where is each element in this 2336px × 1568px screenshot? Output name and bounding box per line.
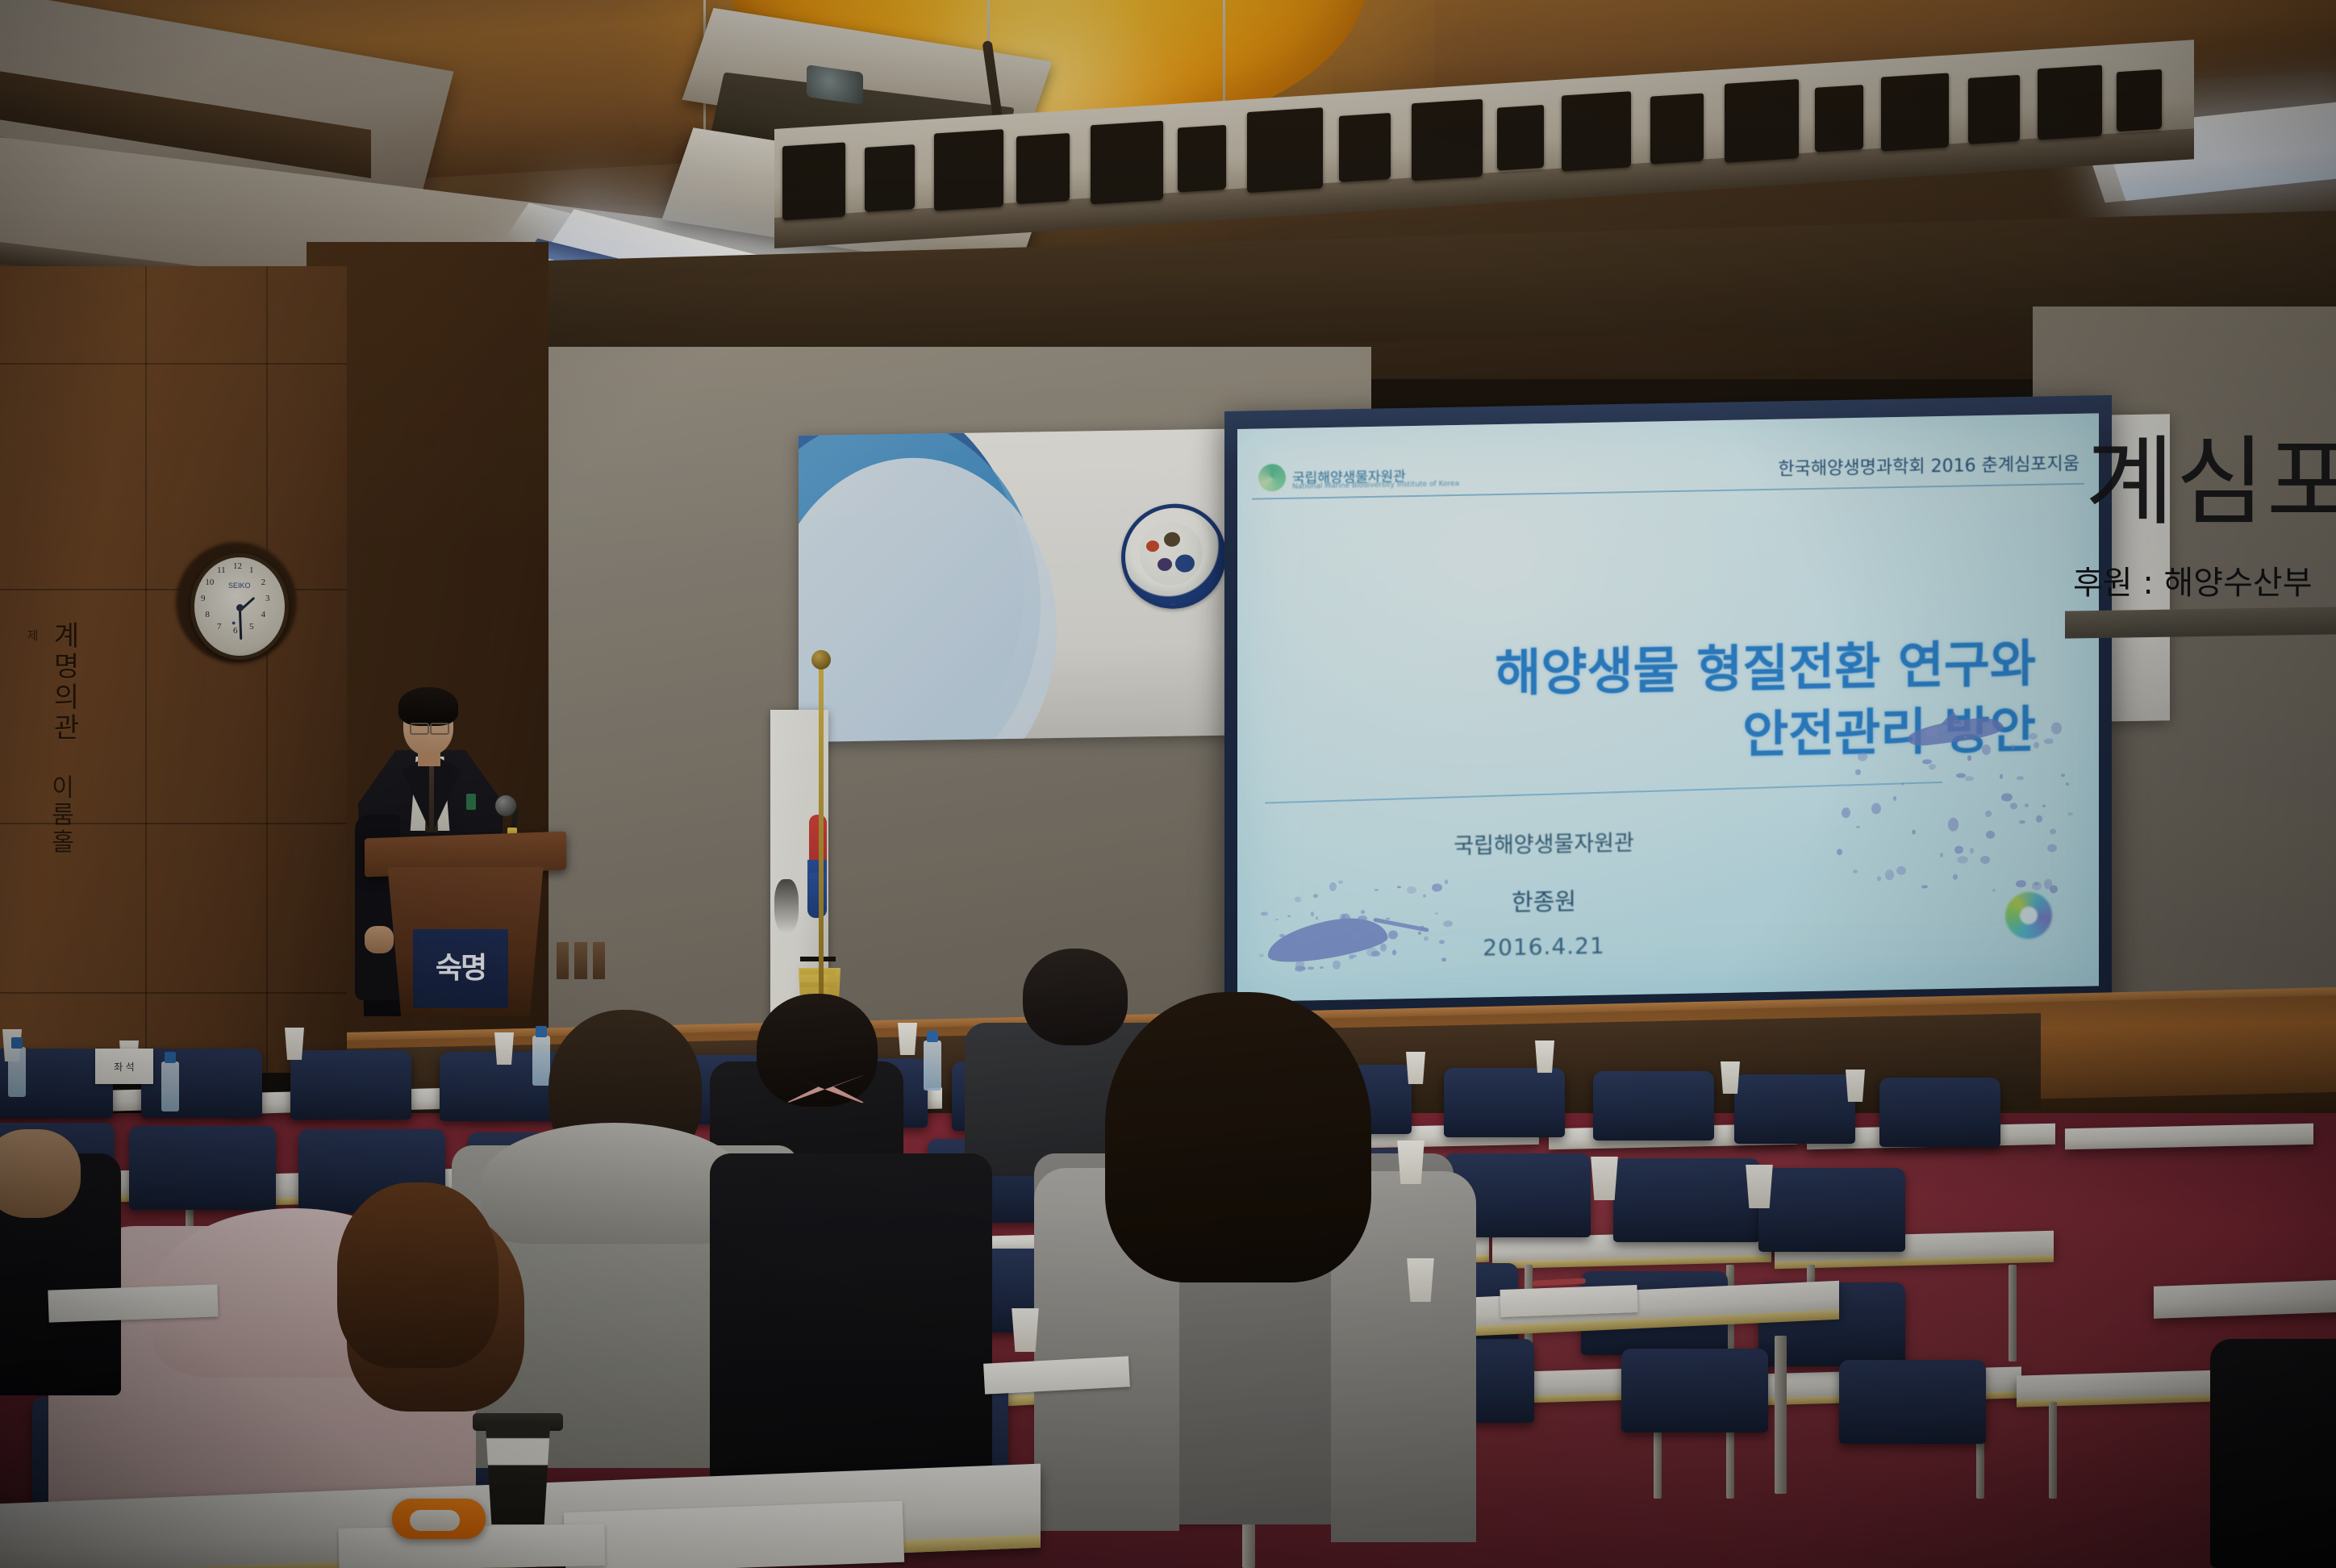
water-bottle — [924, 1040, 941, 1091]
orange-pouch-label — [410, 1510, 460, 1531]
microphone-head — [495, 795, 516, 816]
slide-art-plankton-dot — [2025, 803, 2029, 807]
slide-art-plankton-dot — [1386, 917, 1390, 920]
slide-art-plankton-dot — [1261, 911, 1268, 915]
slide-art-plankton-dot — [1929, 726, 1938, 735]
slide-art-plankton-dot — [1942, 728, 1945, 731]
clock-numeral: 9 — [201, 594, 206, 603]
water-bottle-cap — [165, 1052, 176, 1063]
slide-art-plankton-dot — [1287, 915, 1291, 917]
slide-art-plankton-dot — [1420, 926, 1425, 930]
slide-art-plankton-dot — [1361, 910, 1365, 914]
slide-art-plankton-dot — [1929, 764, 1936, 770]
clock-numeral: 12 — [233, 561, 242, 571]
desk-tent-card: 좌 석 — [95, 1049, 153, 1084]
hoodie-hood — [481, 1123, 747, 1244]
banner-right-title: 계심포 — [2085, 403, 2336, 544]
slide-art-plankton-dot — [1424, 936, 1429, 941]
slide-art-plankton-dot — [1921, 885, 1928, 889]
slide-art-plankton-dot — [2012, 745, 2015, 749]
speaker-name-badge — [466, 794, 476, 810]
slide-art-plankton-dot — [2067, 812, 2073, 815]
slide-art-plankton-dot — [1435, 912, 1438, 915]
clock-subdial: ● — [232, 619, 236, 627]
slide-art-plankton-dot — [2019, 820, 2025, 824]
slide-art-plankton-dot — [2032, 882, 2042, 890]
slide-art-plankton-dot — [1901, 782, 1904, 786]
ceiling-spot-lamp — [1881, 73, 1949, 151]
slide-art-plankton-dot — [1982, 744, 1991, 756]
slide-art-plankton-dot — [1329, 882, 1337, 891]
water-bottle-cap — [11, 1037, 23, 1049]
slide-art-plankton-dot — [1295, 896, 1300, 903]
water-bottle — [532, 1036, 550, 1086]
wall-plaque-text-upper: 계명의관 — [44, 621, 84, 744]
ceiling-spot-lamp — [2117, 69, 2162, 132]
society-emblem-inner — [1140, 522, 1203, 586]
tent-card-label: 좌 석 — [114, 1060, 134, 1074]
slide-art-plankton-dot — [1980, 856, 1990, 864]
ceiling-spot-lamp — [1562, 91, 1631, 171]
slide-art-plankton-dot — [2066, 782, 2069, 786]
slide-art-plankton-dot — [1940, 853, 1943, 857]
water-bottle-cap — [536, 1026, 547, 1037]
slide-art-plankton-dot — [1397, 886, 1402, 888]
slide-art-plankton-dot — [1311, 912, 1314, 916]
slide-art-plankton-dot — [1953, 874, 1958, 880]
slide-art-plankton-dot — [1316, 916, 1318, 920]
ceiling-spot-lamp — [865, 144, 915, 212]
slide-art-plankton-dot — [2042, 804, 2046, 807]
water-bottle-cap — [927, 1031, 938, 1042]
slide-art-plankton-dot — [2029, 733, 2038, 740]
ceiling-spot-lamp — [1497, 105, 1544, 171]
wall-plaque-text-lower: 이룸홀 — [42, 774, 77, 857]
water-bottle — [161, 1061, 179, 1111]
slide-art-plankton-dot — [1432, 883, 1442, 892]
clock-numeral: 5 — [249, 622, 254, 632]
slide-art-plankton-dot — [2001, 793, 2012, 802]
audience-person-head — [0, 1129, 81, 1218]
slide-art-plankton-dot — [1275, 919, 1278, 920]
clock-numeral: 4 — [261, 610, 266, 619]
clock-numeral: 7 — [217, 622, 222, 632]
chair-mid — [1613, 1158, 1760, 1242]
society-emblem-icon — [1121, 503, 1226, 610]
flag-taeguk-blue — [807, 860, 827, 918]
slide-art-plankton-dot — [1855, 769, 1860, 775]
ceiling-spot-lamp — [1247, 107, 1323, 193]
ceiling-spot-lamp — [1091, 121, 1163, 205]
podium-logo-text: 숙명 — [436, 955, 486, 982]
ceiling-spot-lamp — [934, 129, 1003, 211]
slide-art-plankton-dot — [1351, 954, 1357, 957]
wall-vent-louvers — [557, 942, 605, 979]
slide-art-plankton-dot — [1853, 869, 1858, 874]
slide-art-plankton-dot — [1871, 803, 1881, 814]
slide-art-plankton-dot — [1856, 826, 1860, 828]
slide-art-plankton-dot — [1912, 830, 1916, 835]
slide-art-plankton-dot — [1986, 831, 1995, 839]
slide-art-plankton-dot — [1375, 931, 1381, 938]
slide-art-plankton-dot — [1423, 894, 1425, 897]
slide-art-plankton-cluster-right — [1834, 720, 2068, 894]
foreground-paper-stack — [564, 1501, 904, 1568]
slide-art-plankton-dot — [2017, 776, 2024, 781]
slide-art-plankton-dot — [1988, 724, 1992, 729]
slide-eyebrow-text: 한국해양생명과학회 2016 춘계심포지움 — [1778, 449, 2079, 481]
chair-far — [290, 1050, 411, 1120]
slide-art-plankton-dot — [1970, 849, 1975, 853]
slide-art-plankton-dot — [1439, 940, 1445, 945]
slide-art-plankton-dot — [2016, 880, 2025, 887]
speaker-glasses-right-lens — [430, 723, 449, 735]
takeaway-coffee-cup — [479, 1421, 557, 1524]
audience-person-head — [1023, 949, 1128, 1045]
clock-brand-text: SEIKO — [228, 582, 251, 590]
slide-art-plankton-dot — [2044, 738, 2054, 744]
flag-pole — [819, 661, 824, 1032]
flag-trigram-bar — [800, 957, 836, 961]
slide-art-plankton-dot — [1338, 880, 1343, 883]
slide-art-plankton-dot — [1313, 894, 1318, 898]
desk-leg — [2009, 1265, 2017, 1362]
wall-clock: 121234567891011 SEIKO ● — [190, 553, 289, 660]
slide-art-plankton-dot — [2034, 742, 2039, 749]
podium-logo-plate: 숙명 — [413, 929, 508, 1008]
chair-far — [1879, 1078, 2000, 1147]
chair-mid — [1621, 1349, 1768, 1432]
water-bottle — [8, 1047, 26, 1097]
audience-person-torso — [710, 1153, 992, 1492]
banner-right-sponsor-line: 후원 : 해양수산부 — [2073, 557, 2313, 603]
ceiling-spot-lamp — [1016, 133, 1070, 204]
slide-art-plankton-dot — [1948, 818, 1959, 832]
slide-art-plankton-dot — [1320, 966, 1324, 969]
audience-person-head — [1105, 992, 1371, 1282]
flag-pole-finial — [811, 650, 831, 669]
clock-numeral: 1 — [249, 565, 254, 575]
slide-art-plankton-dot — [1896, 865, 1906, 874]
slide-art-plankton-dot — [1380, 944, 1387, 952]
ceiling-spot-lamp — [2038, 65, 2102, 140]
ceiling-spot-lamp — [1725, 79, 1799, 163]
ceiling-spot-lamp — [1650, 94, 1704, 165]
chair-far — [1444, 1068, 1565, 1137]
slide-art-plankton-dot — [1279, 934, 1285, 937]
slide-art-plankton-dot — [1392, 949, 1396, 955]
ceiling-spot-lamp — [782, 142, 845, 220]
slide-art-plankton-dot — [1964, 736, 1967, 739]
wall-plaque-small-text: 제 — [24, 629, 41, 641]
slide-art-plankton-dot — [1325, 924, 1329, 928]
desk-paper — [48, 1284, 218, 1322]
slide-art-plankton-dot — [1441, 957, 1446, 961]
clock-numeral: 3 — [265, 594, 270, 603]
ceiling-spot-lamp — [1815, 85, 1863, 152]
clock-numeral: 11 — [217, 565, 226, 575]
clock-center-pin — [236, 604, 244, 611]
slide-art-plankton-dot — [1967, 755, 1971, 761]
audience-person-head — [337, 1182, 498, 1368]
slide-art-plankton-dot — [1985, 810, 1992, 816]
slide-art-plankton-dot — [2051, 722, 2062, 734]
slide-art-plankton-cluster-left — [1254, 877, 1447, 969]
slide-art-plankton-dot — [1885, 869, 1894, 881]
ceiling-spot-lamp — [1339, 113, 1391, 182]
chair-far — [1593, 1071, 1714, 1141]
banner-swoosh-graphic — [799, 430, 1145, 742]
slide-art-plankton-dot — [1374, 889, 1378, 891]
clock-numeral: 6 — [233, 626, 238, 636]
ceiling-spot-lamp — [1412, 99, 1483, 181]
slide-art-plankton-dot — [1358, 915, 1367, 921]
slide-art-plankton-dot — [1842, 807, 1850, 818]
slide-art-plankton-dot — [1274, 945, 1279, 949]
slide-art-plankton-dot — [1957, 856, 1968, 864]
clock-numeral: 2 — [261, 578, 266, 587]
slide-art-plankton-dot — [1858, 752, 1867, 761]
slide-art-plankton-dot — [1954, 845, 1963, 853]
speaker-hair — [398, 687, 458, 726]
slide-art-plankton-dot — [1351, 932, 1362, 940]
slide-art-plankton-dot — [1443, 920, 1453, 927]
desk-paper — [1500, 1285, 1637, 1317]
slide-art-plankton-dot — [1965, 777, 1974, 782]
conference-hall-photo: 제 계명의관 이룸홀 121234567891011 SEIKO ● 2016 … — [0, 0, 2336, 1568]
slide-art-plankton-dot — [1308, 966, 1314, 970]
clock-numeral: 10 — [205, 578, 214, 587]
chair-mid — [1839, 1360, 1986, 1444]
slide-art-plankton-dot — [2000, 774, 2004, 778]
slide-art-plankton-dot — [1837, 849, 1842, 855]
slide-art-plankton-dot — [1407, 886, 1416, 894]
desk-leg — [2049, 1402, 2057, 1499]
slide-art-plankton-dot — [2047, 844, 2057, 853]
slide-art-plankton-dot — [1366, 948, 1377, 957]
clock-numeral: 8 — [205, 610, 210, 619]
slide-art-plankton-dot — [2010, 803, 2017, 809]
ceiling-spot-lamp — [1968, 75, 2020, 144]
banner-right-base — [2065, 607, 2336, 638]
slide-art-plankton-dot — [1341, 914, 1350, 924]
chair-mid — [1758, 1168, 1905, 1252]
ceiling-spot-lamp — [1178, 125, 1226, 193]
slide-art-plankton-dot — [1259, 954, 1264, 957]
flag-taeguk-swirl — [774, 879, 799, 932]
audience-person-torso — [2210, 1339, 2336, 1568]
slide-art-plankton-dot — [2044, 878, 2052, 889]
slide-art-plankton-dot — [1388, 930, 1398, 939]
projection-screen: 국립해양생물자원관 National Marine Biodiversity I… — [1237, 413, 2099, 1002]
slide-art-plankton-dot — [1893, 796, 1896, 801]
slide-art-plankton-dot — [1922, 759, 1931, 764]
slide-art-plankton-dot — [1956, 773, 1966, 778]
speaker-hand — [365, 926, 394, 953]
slide-art-plankton-dot — [2050, 829, 2056, 835]
chair-far — [141, 1049, 262, 1118]
desk-leg — [1775, 1336, 1787, 1494]
slide-art-plankton-dot — [1418, 932, 1421, 934]
speaker-glasses-left-lens — [410, 723, 429, 735]
slide-art-plankton-dot — [1877, 877, 1881, 882]
chair-mid — [129, 1126, 276, 1210]
slide-art-plankton-dot — [2036, 815, 2042, 824]
slide-art-plankton-dot — [2061, 774, 2065, 777]
chair-far — [1734, 1074, 1855, 1144]
